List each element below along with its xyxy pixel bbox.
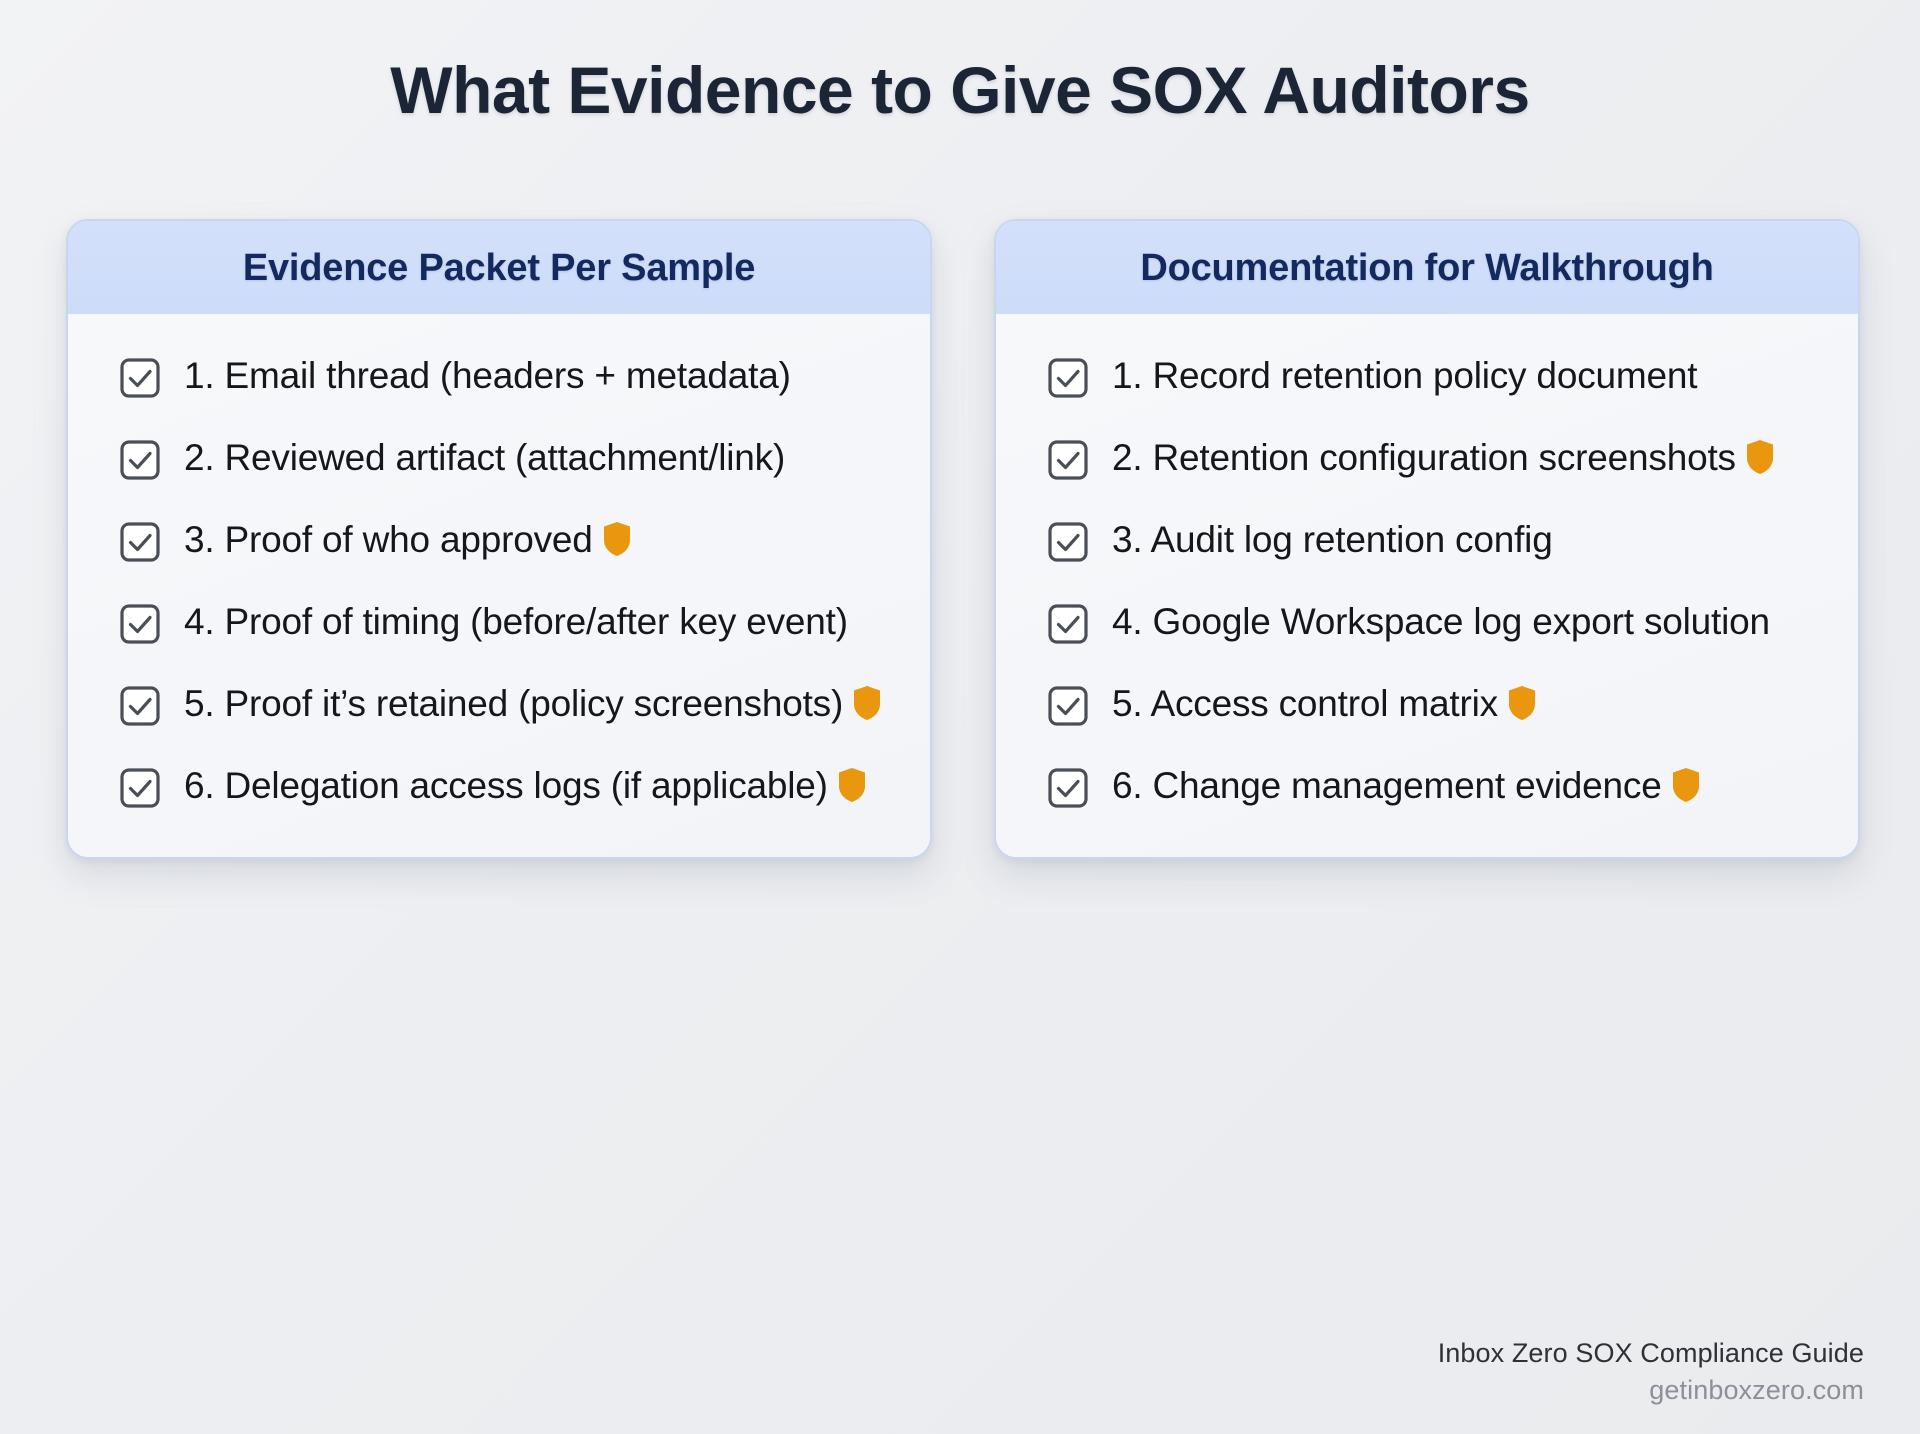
checkbox-checked-icon[interactable]: [1048, 522, 1088, 562]
card-body-documentation-walkthrough: 1. Record retention policy document 2. R…: [996, 314, 1858, 857]
list-item-text-wrapper: 5. Access control matrix: [1112, 680, 1536, 728]
cards-container: Evidence Packet Per Sample 1. Email thre…: [66, 219, 1861, 859]
list-item-text-wrapper: 6. Delegation access logs (if applicable…: [184, 762, 866, 810]
list-item-label: 4. Google Workspace log export solution: [1112, 598, 1770, 646]
checkbox-checked-icon[interactable]: [1048, 358, 1088, 398]
list-item[interactable]: 2. Reviewed artifact (attachment/link): [120, 434, 890, 482]
list-item[interactable]: 5. Access control matrix: [1048, 680, 1818, 728]
list-item-label: 5. Proof it’s retained (policy screensho…: [184, 683, 843, 724]
list-item-text-wrapper: 5. Proof it’s retained (policy screensho…: [184, 680, 881, 728]
list-item-label: 2. Retention configuration screenshots: [1112, 437, 1736, 478]
card-evidence-packet: Evidence Packet Per Sample 1. Email thre…: [66, 219, 932, 859]
list-item[interactable]: 5. Proof it’s retained (policy screensho…: [120, 680, 890, 728]
checkbox-checked-icon[interactable]: [1048, 768, 1088, 808]
list-item-text-wrapper: 3. Proof of who approved: [184, 516, 631, 564]
shield-icon: [1746, 439, 1774, 475]
checkbox-checked-icon[interactable]: [1048, 686, 1088, 726]
checkbox-checked-icon[interactable]: [1048, 604, 1088, 644]
list-item-text-wrapper: 6. Change management evidence: [1112, 762, 1700, 810]
list-item-label: 1. Record retention policy document: [1112, 352, 1697, 400]
card-header-evidence-packet: Evidence Packet Per Sample: [68, 221, 930, 314]
shield-icon: [603, 521, 631, 557]
checkbox-checked-icon[interactable]: [1048, 440, 1088, 480]
list-item[interactable]: 1. Record retention policy document: [1048, 352, 1818, 400]
card-documentation-walkthrough: Documentation for Walkthrough 1. Record …: [994, 219, 1860, 859]
shield-icon: [838, 767, 866, 803]
list-item-label: 6. Change management evidence: [1112, 765, 1662, 806]
list-item-label: 4. Proof of timing (before/after key eve…: [184, 598, 848, 646]
footer-website: getinboxzero.com: [1438, 1375, 1864, 1406]
list-item-label: 3. Proof of who approved: [184, 519, 593, 560]
list-item[interactable]: 3. Proof of who approved: [120, 516, 890, 564]
card-body-evidence-packet: 1. Email thread (headers + metadata) 2. …: [68, 314, 930, 857]
shield-icon: [853, 685, 881, 721]
checkbox-checked-icon[interactable]: [120, 522, 160, 562]
list-item[interactable]: 4. Proof of timing (before/after key eve…: [120, 598, 890, 646]
shield-icon: [1508, 685, 1536, 721]
card-title: Documentation for Walkthrough: [996, 247, 1858, 290]
shield-icon: [1672, 767, 1700, 803]
list-item-label: 5. Access control matrix: [1112, 683, 1498, 724]
card-header-documentation-walkthrough: Documentation for Walkthrough: [996, 221, 1858, 314]
list-item-label: 6. Delegation access logs (if applicable…: [184, 765, 828, 806]
list-item[interactable]: 6. Change management evidence: [1048, 762, 1818, 810]
checkbox-checked-icon[interactable]: [120, 440, 160, 480]
list-item-label: 1. Email thread (headers + metadata): [184, 352, 791, 400]
checkbox-checked-icon[interactable]: [120, 358, 160, 398]
list-item[interactable]: 3. Audit log retention config: [1048, 516, 1818, 564]
footer: Inbox Zero SOX Compliance Guide getinbox…: [1438, 1338, 1864, 1406]
list-item-text-wrapper: 2. Retention configuration screenshots: [1112, 434, 1774, 482]
list-item[interactable]: 6. Delegation access logs (if applicable…: [120, 762, 890, 810]
checkbox-checked-icon[interactable]: [120, 604, 160, 644]
card-title: Evidence Packet Per Sample: [68, 247, 930, 290]
checkbox-checked-icon[interactable]: [120, 686, 160, 726]
list-item[interactable]: 1. Email thread (headers + metadata): [120, 352, 890, 400]
checkbox-checked-icon[interactable]: [120, 768, 160, 808]
list-item-label: 2. Reviewed artifact (attachment/link): [184, 434, 785, 482]
list-item[interactable]: 2. Retention configuration screenshots: [1048, 434, 1818, 482]
list-item[interactable]: 4. Google Workspace log export solution: [1048, 598, 1818, 646]
list-item-label: 3. Audit log retention config: [1112, 516, 1553, 564]
page-title: What Evidence to Give SOX Auditors: [0, 52, 1920, 128]
infographic-page: What Evidence to Give SOX Auditors Evide…: [0, 0, 1920, 1434]
footer-guide-name: Inbox Zero SOX Compliance Guide: [1438, 1338, 1864, 1369]
